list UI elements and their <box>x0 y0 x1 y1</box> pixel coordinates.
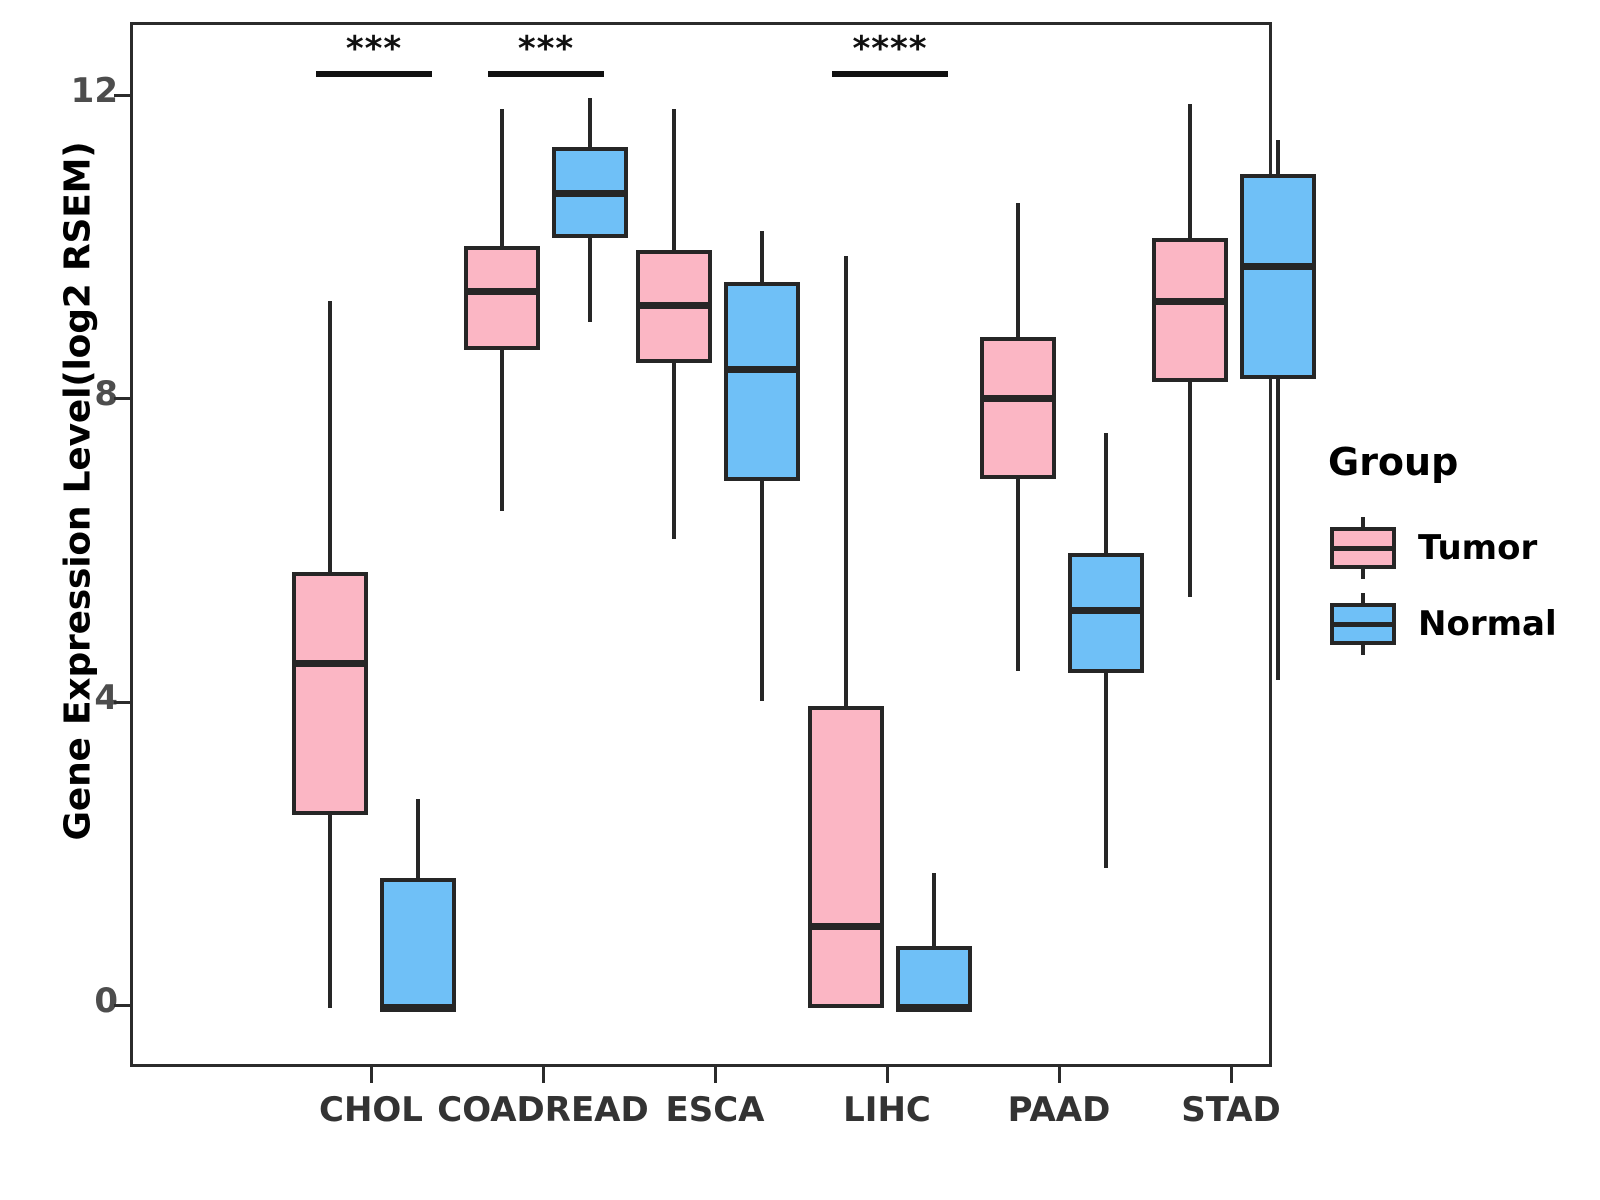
x-axis-tick <box>1230 1067 1233 1083</box>
legend-key-median <box>1332 546 1394 551</box>
boxplot-median <box>380 1005 456 1012</box>
y-axis-tick-label: 12 <box>0 71 118 111</box>
legend-items: TumorNormal <box>1326 510 1596 662</box>
y-axis-tick-label: 8 <box>0 374 118 414</box>
boxplot-median <box>1068 607 1144 614</box>
boxplot-median <box>636 302 712 309</box>
boxplot-median <box>896 1005 972 1012</box>
y-axis-tick <box>114 701 130 704</box>
legend-key-swatch <box>1330 593 1396 655</box>
boxplot-median <box>292 660 368 667</box>
boxplot-box <box>808 706 884 1008</box>
boxplot-median <box>552 190 628 197</box>
x-axis-tick-label: STAD <box>1111 1090 1351 1130</box>
y-axis-tick-label: 4 <box>0 678 118 718</box>
legend-item-tumor[interactable]: Tumor <box>1326 510 1596 586</box>
y-axis-tick <box>114 94 130 97</box>
plot-panel: ********** <box>130 22 1272 1067</box>
significance-bracket <box>832 71 948 77</box>
significance-bracket <box>316 71 432 77</box>
x-axis-tick <box>886 1067 889 1083</box>
boxplot-median <box>1240 263 1316 270</box>
plot-area: ********** <box>133 25 1269 1064</box>
legend-item-label: Normal <box>1418 604 1557 644</box>
legend-item-label: Tumor <box>1418 528 1537 568</box>
y-axis-tick-label: 0 <box>0 981 118 1021</box>
boxplot-box <box>1240 174 1316 379</box>
boxplot-median <box>980 395 1056 402</box>
boxplot-median <box>724 366 800 373</box>
boxplot-box <box>380 878 456 1008</box>
legend-key-swatch <box>1330 517 1396 579</box>
chart-figure: Gene Expression Level(log2 RSEM) 04812 C… <box>0 0 1600 1200</box>
x-axis-tick <box>714 1067 717 1083</box>
boxplot-box <box>724 282 800 481</box>
legend: Group TumorNormal <box>1326 440 1596 662</box>
significance-bracket <box>488 71 604 77</box>
x-axis-tick <box>1058 1067 1061 1083</box>
y-axis-tick <box>114 1004 130 1007</box>
boxplot-median <box>464 288 540 295</box>
boxplot-median <box>1152 298 1228 305</box>
legend-item-normal[interactable]: Normal <box>1326 586 1596 662</box>
legend-key-whisker-bottom <box>1361 644 1365 655</box>
boxplot-box <box>464 246 540 350</box>
boxplot-median <box>808 923 884 930</box>
boxplot-box <box>896 946 972 1008</box>
boxplot-box <box>980 337 1056 479</box>
legend-key-median <box>1332 622 1394 627</box>
legend-key-whisker-bottom <box>1361 568 1365 579</box>
x-axis-tick <box>370 1067 373 1083</box>
boxplot-box <box>1152 238 1228 382</box>
y-axis-tick <box>114 397 130 400</box>
significance-stars: *** <box>436 29 656 69</box>
y-axis-title: Gene Expression Level(log2 RSEM) <box>58 201 99 841</box>
x-axis-tick <box>542 1067 545 1083</box>
legend-title: Group <box>1328 440 1596 484</box>
significance-stars: **** <box>780 29 1000 69</box>
boxplot-box <box>292 572 368 815</box>
